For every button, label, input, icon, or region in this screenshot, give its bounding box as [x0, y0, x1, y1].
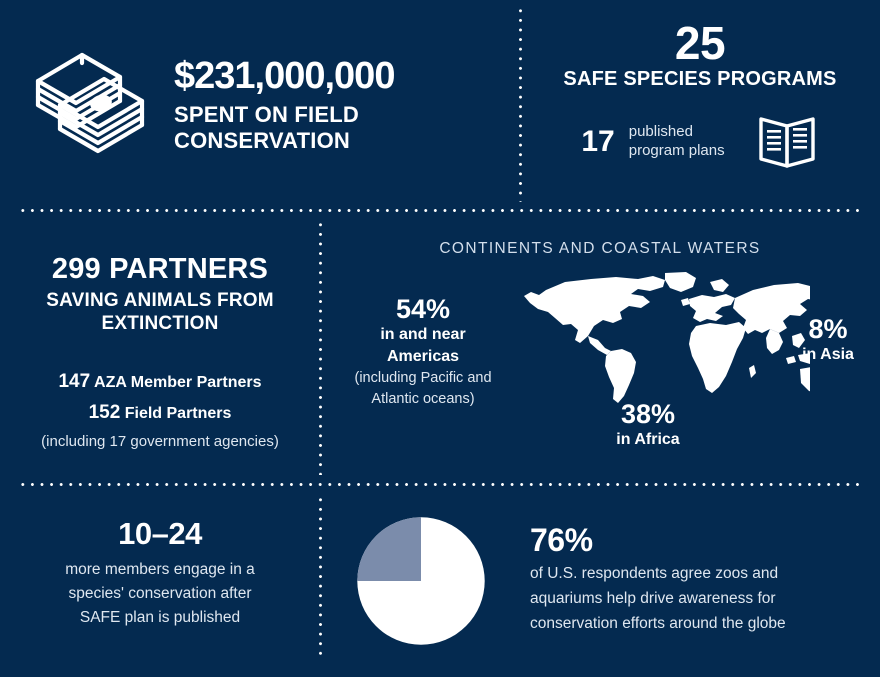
map-section-title: CONTINENTS AND COASTAL WATERS	[320, 240, 880, 258]
partner-line-field-label: Field Partners	[125, 405, 232, 422]
money-label: SPENT ON FIELD CONSERVATION	[174, 102, 394, 154]
map-stat-asia: 8% in Asia	[780, 315, 876, 365]
map-stat-asia-line1: in Asia	[780, 345, 876, 364]
published-plans-line1: published	[629, 123, 725, 142]
field-conservation-stat: $231,000,000 SPENT ON FIELD CONSERVATION	[0, 0, 520, 210]
survey-line1: of U.S. respondents agree zoos and	[530, 562, 786, 587]
map-stat-asia-pct: 8%	[780, 315, 876, 343]
partners-subheading-line2: EXTINCTION	[12, 313, 308, 335]
map-stat-africa-pct: 38%	[588, 400, 708, 428]
map-stat-americas: 54% in and near Americas (including Paci…	[348, 295, 498, 409]
partner-breakdown-list: 147 AZA Member Partners 152 Field Partne…	[12, 371, 308, 450]
published-plans-row: 17 published program plans	[520, 114, 880, 170]
published-plans-count: 17	[581, 125, 614, 159]
money-amount: $231,000,000	[174, 57, 394, 95]
partners-subheading-line1: SAVING ANIMALS FROM	[12, 290, 308, 312]
member-engagement-line3: SAFE plan is published	[36, 606, 284, 630]
map-stat-americas-note1: (including Pacific and	[348, 369, 498, 388]
map-stat-americas-line1: in and near	[348, 325, 498, 344]
money-text-block: $231,000,000 SPENT ON FIELD CONSERVATION	[174, 57, 394, 154]
published-plans-label: published program plans	[629, 123, 725, 161]
money-label-line2: CONSERVATION	[174, 128, 394, 154]
open-book-icon	[755, 114, 819, 170]
world-map-icon	[500, 270, 810, 405]
partners-note: (including 17 government agencies)	[12, 433, 308, 450]
map-stat-americas-pct: 54%	[348, 295, 498, 323]
partner-line-field: 152 Field Partners	[12, 402, 308, 424]
map-stat-americas-line2: Americas	[348, 347, 498, 366]
safe-species-programs-stat: 25 SAFE SPECIES PROGRAMS 17 published pr…	[520, 0, 880, 210]
survey-pct: 76%	[530, 524, 786, 556]
survey-body: of U.S. respondents agree zoos and aquar…	[530, 562, 786, 636]
survey-text-block: 76% of U.S. respondents agree zoos and a…	[530, 524, 786, 636]
partner-line-aza-number: 147	[58, 371, 90, 392]
map-stat-africa-line1: in Africa	[588, 430, 708, 449]
partners-count-heading: 299 PARTNERS	[12, 252, 308, 286]
infographic-canvas: $231,000,000 SPENT ON FIELD CONSERVATION…	[0, 0, 880, 677]
safe-programs-count: 25	[520, 20, 880, 66]
partners-subheading: SAVING ANIMALS FROM EXTINCTION	[12, 290, 308, 335]
survey-line3: conservation efforts around the globe	[530, 612, 786, 637]
member-engagement-line1: more members engage in a	[36, 558, 284, 582]
map-stat-americas-note2: Atlantic oceans)	[348, 390, 498, 409]
partner-line-aza: 147 AZA Member Partners	[12, 371, 308, 393]
safe-programs-label: SAFE SPECIES PROGRAMS	[520, 68, 880, 92]
money-label-line1: SPENT ON FIELD	[174, 102, 394, 128]
survey-line2: aquariums help drive awareness for	[530, 587, 786, 612]
partner-line-field-number: 152	[89, 402, 121, 423]
partners-stat: 299 PARTNERS SAVING ANIMALS FROM EXTINCT…	[0, 210, 320, 484]
map-stat-africa: 38% in Africa	[588, 400, 708, 450]
member-engagement-text: more members engage in a species' conser…	[0, 558, 320, 630]
member-engagement-line2: species' conservation after	[36, 582, 284, 606]
partner-line-aza-label: AZA Member Partners	[94, 374, 261, 391]
member-engagement-range: 10–24	[0, 518, 320, 549]
published-plans-line2: program plans	[629, 142, 725, 161]
money-stack-icon	[18, 45, 146, 165]
geographic-distribution-stat: CONTINENTS AND COASTAL WATERS	[320, 210, 880, 484]
pie-chart	[356, 516, 486, 646]
member-engagement-stat: 10–24 more members engage in a species' …	[0, 484, 320, 677]
survey-stat: 76% of U.S. respondents agree zoos and a…	[320, 484, 880, 677]
